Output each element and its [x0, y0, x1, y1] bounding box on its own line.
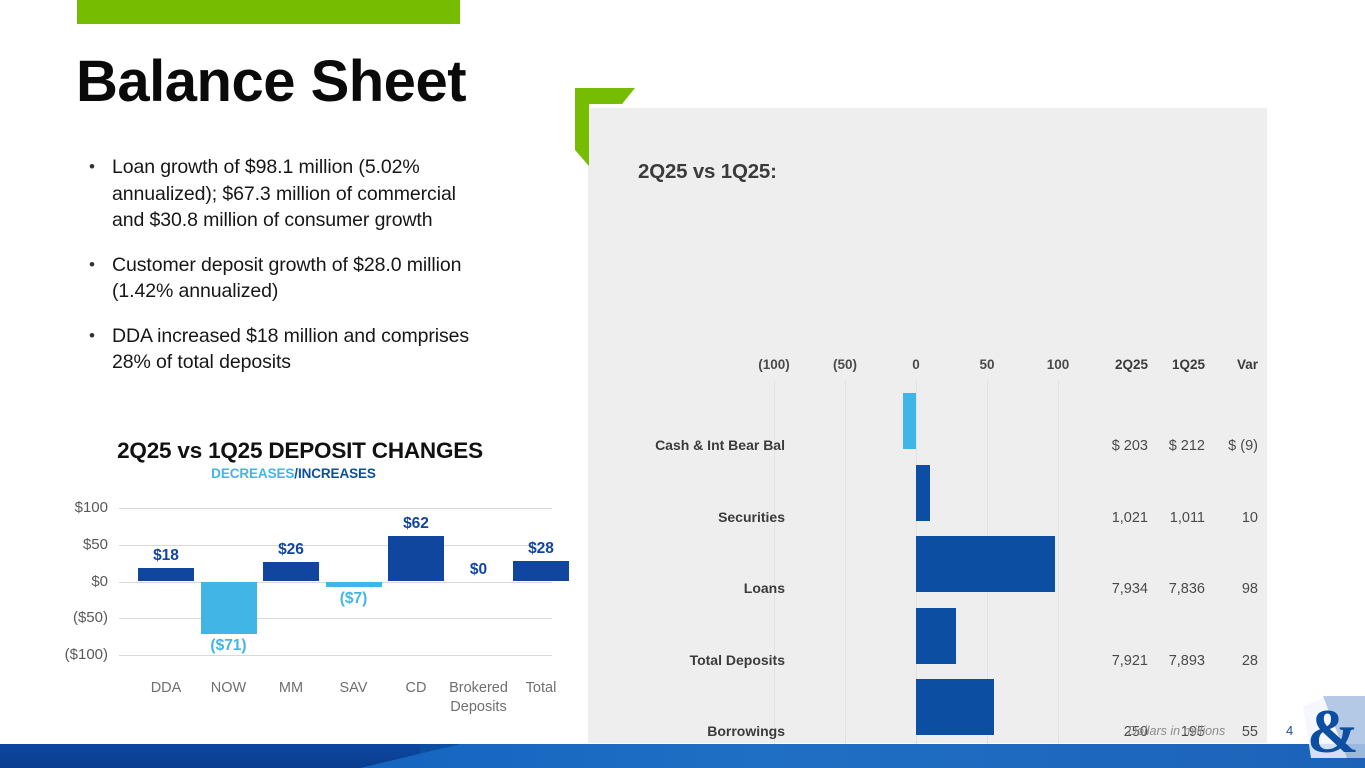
deposit-chart-plot-area: $100$50$0($50)($100)$18DDA($71)NOW$26MM(… [20, 496, 580, 716]
gridline [119, 655, 552, 656]
variance-bar [903, 393, 916, 449]
subtitle-increases: INCREASES [298, 466, 376, 481]
table-column-header: Var [1198, 357, 1258, 372]
ampersand-logo-icon: & [1303, 696, 1365, 758]
x-axis-tick-label: 100 [1023, 357, 1093, 372]
deposit-bar [201, 582, 257, 634]
band-segment-right [360, 744, 1365, 768]
bar-value-label: $28 [506, 540, 576, 558]
list-item: • Loan growth of $98.1 million (5.02% an… [84, 154, 474, 234]
bullet-text: Loan growth of $98.1 million (5.02% annu… [112, 154, 474, 234]
table-cell: $ (9) [1192, 438, 1258, 454]
gridline [119, 618, 552, 619]
y-axis-tick-label: $0 [20, 573, 108, 590]
top-green-accent-bar [77, 0, 460, 24]
variance-bar [916, 465, 930, 521]
deposit-chart-subtitle: DECREASES/INCREASES [20, 466, 567, 481]
variance-bar [916, 536, 1055, 592]
deposit-bar [513, 561, 569, 582]
table-cell: 10 [1192, 510, 1258, 526]
table-cell: 98 [1192, 581, 1258, 597]
table-column-header: 2Q25 [1088, 357, 1148, 372]
x-axis-tick-label: 0 [881, 357, 951, 372]
bullet-marker-icon: • [84, 252, 112, 305]
deposit-changes-chart: 2Q25 vs 1Q25 DEPOSIT CHANGES DECREASES/I… [20, 438, 580, 718]
x-axis-tick-label: (50) [810, 357, 880, 372]
svg-text:&: & [1307, 698, 1359, 758]
gridline [845, 380, 846, 750]
variance-bar [916, 679, 994, 735]
row-label: Loans [635, 580, 785, 596]
row-label: Total Deposits [635, 652, 785, 668]
bullet-text: DDA increased $18 million and comprises … [112, 323, 474, 376]
x-axis-tick-label: 50 [952, 357, 1022, 372]
bar-value-label: ($71) [194, 637, 264, 655]
list-item: • Customer deposit growth of $28.0 milli… [84, 252, 474, 305]
deposit-bar [326, 582, 382, 587]
bar-value-label: $18 [131, 547, 201, 565]
gridline [119, 508, 552, 509]
y-axis-tick-label: ($100) [20, 646, 108, 663]
deposit-bar [388, 536, 444, 582]
y-axis-tick-label: ($50) [20, 609, 108, 626]
x-axis-tick-label: (100) [739, 357, 809, 372]
table-cell: 28 [1192, 653, 1258, 669]
bullet-marker-icon: • [84, 323, 112, 376]
table-column-header: 1Q25 [1145, 357, 1205, 372]
deposit-bar [263, 562, 319, 581]
bullet-list: • Loan growth of $98.1 million (5.02% an… [84, 154, 474, 394]
list-item: • DDA increased $18 million and comprise… [84, 323, 474, 376]
deposit-bar [138, 568, 194, 581]
bullet-marker-icon: • [84, 154, 112, 234]
gridline [119, 545, 552, 546]
y-axis-tick-label: $100 [20, 499, 108, 516]
bar-value-label: $0 [444, 561, 514, 579]
bar-value-label: ($7) [319, 590, 389, 608]
row-label: Cash & Int Bear Bal [635, 437, 785, 453]
variance-bar [916, 608, 956, 664]
bar-value-label: $26 [256, 541, 326, 559]
gridline [774, 380, 775, 750]
x-axis-tick-label: Total [504, 679, 578, 698]
gridline [1058, 380, 1059, 750]
footnote: Dollars in millions [1128, 724, 1225, 738]
page-title: Balance Sheet [76, 52, 466, 113]
row-label: Borrowings [635, 723, 785, 739]
band-segment-left [0, 744, 420, 768]
y-axis-tick-label: $50 [20, 536, 108, 553]
row-label: Securities [635, 509, 785, 525]
page-number: 4 [1286, 723, 1293, 738]
subtitle-decreases: DECREASES [211, 466, 294, 481]
balance-panel-plot-area: (100)(50)0501002Q251Q25VarCash & Int Bea… [588, 108, 1267, 743]
bottom-blue-band [0, 744, 1365, 768]
slide: Balance Sheet • Loan growth of $98.1 mil… [0, 0, 1365, 768]
bar-value-label: $62 [381, 515, 451, 533]
bullet-text: Customer deposit growth of $28.0 million… [112, 252, 474, 305]
deposit-chart-title: 2Q25 vs 1Q25 DEPOSIT CHANGES [20, 438, 580, 464]
